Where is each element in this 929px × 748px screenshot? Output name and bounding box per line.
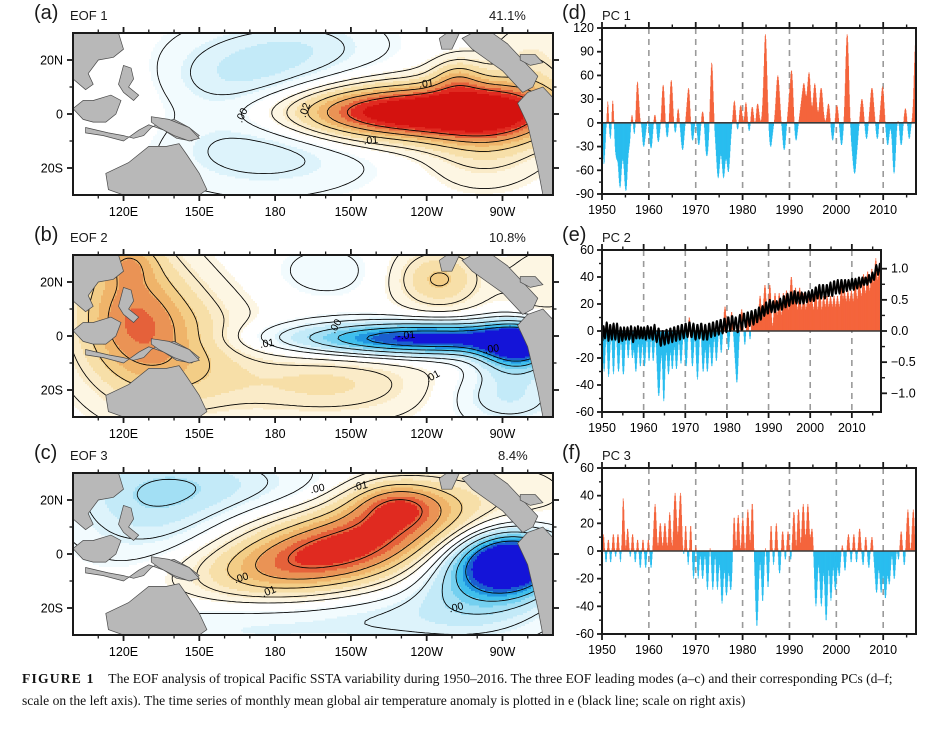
contour-label: -.01 bbox=[397, 329, 416, 343]
pc2-chart: -60-40-200204060−1.0−0.50.00.51.01950196… bbox=[560, 240, 929, 440]
pc2-y2tick-label: −0.5 bbox=[891, 355, 916, 369]
map-ytick-label: 20N bbox=[40, 276, 63, 290]
map-xtick-label: 150W bbox=[335, 205, 368, 219]
pc1-xtick-label: 1970 bbox=[682, 203, 710, 217]
pc1-ytick-label: 0 bbox=[587, 116, 594, 130]
pc3-xtick-label: 1960 bbox=[635, 643, 663, 657]
pc1-xtick-label: 2000 bbox=[822, 203, 850, 217]
pc2-y2tick-label: 1.0 bbox=[891, 262, 908, 276]
map-xtick-label: 120W bbox=[410, 205, 443, 219]
pc2-xtick-label: 2000 bbox=[796, 421, 824, 435]
eof3-field bbox=[73, 473, 554, 636]
map-xtick-label: 120E bbox=[109, 645, 138, 659]
caption-text: The EOF analysis of tropical Pacific SST… bbox=[22, 671, 893, 708]
contour-label: .00 bbox=[484, 342, 500, 356]
pc3-chart: -60-40-200204060195019601970198019902000… bbox=[560, 458, 929, 662]
panel-pc1: (d) PC 1 -90-60-300306090120195019601970… bbox=[560, 0, 929, 222]
pc2-y2tick-label: 0.5 bbox=[891, 293, 908, 307]
pc1-ytick-label: 60 bbox=[580, 68, 594, 82]
pc1-ytick-label: -90 bbox=[576, 187, 594, 201]
map-xtick-label: 120W bbox=[410, 645, 443, 659]
map-ytick-label: 20N bbox=[40, 54, 63, 68]
panel-eof2: (b) EOF 2 10.8% .00-.01.00.01.01120E150E… bbox=[0, 222, 560, 440]
pc2-y2tick-label: 0.0 bbox=[891, 324, 908, 338]
pc1-svg: -90-60-300306090120195019601970198019902… bbox=[560, 18, 929, 222]
pc1-chart: -90-60-300306090120195019601970198019902… bbox=[560, 18, 929, 222]
map-xtick-label: 180 bbox=[265, 645, 286, 659]
pc3-ytick-label: 0 bbox=[587, 544, 594, 558]
pc1-xtick-label: 1950 bbox=[588, 203, 616, 217]
map-ytick-label: 0 bbox=[56, 548, 63, 562]
pc3-xtick-label: 1980 bbox=[729, 643, 757, 657]
pc1-ytick-label: 90 bbox=[580, 45, 594, 59]
map-xtick-label: 150W bbox=[335, 427, 368, 441]
pc1-xtick-label: 1990 bbox=[776, 203, 804, 217]
map-xtick-label: 150W bbox=[335, 645, 368, 659]
map-xtick-label: 90W bbox=[490, 205, 516, 219]
pc2-ytick-label: 40 bbox=[580, 270, 594, 284]
pc2-ytick-label: -40 bbox=[576, 378, 594, 392]
pc3-xtick-label: 1970 bbox=[682, 643, 710, 657]
pc2-ytick-label: 60 bbox=[580, 243, 594, 257]
map-ytick-label: 0 bbox=[56, 108, 63, 122]
pc1-xtick-label: 2010 bbox=[869, 203, 897, 217]
map-xtick-label: 120E bbox=[109, 427, 138, 441]
map-xtick-label: 150E bbox=[185, 427, 214, 441]
pc1-ytick-label: 120 bbox=[573, 21, 594, 35]
contour-label: .01 bbox=[259, 337, 276, 351]
eof1-field bbox=[73, 33, 554, 196]
contour-label: .01 bbox=[352, 479, 369, 493]
pc2-ytick-label: 20 bbox=[580, 297, 594, 311]
panel-pc2: (e) PC 2 -60-40-200204060−1.0−0.50.00.51… bbox=[560, 222, 929, 440]
pc1-ytick-label: -60 bbox=[576, 163, 594, 177]
pc3-xtick-label: 1950 bbox=[588, 643, 616, 657]
eof2-svg: .00-.01.00.01.01120E150E180150W120W90W20… bbox=[0, 242, 560, 442]
pc2-ytick-label: 0 bbox=[587, 324, 594, 338]
pc2-svg: -60-40-200204060−1.0−0.50.00.51.01950196… bbox=[560, 240, 929, 440]
map-ytick-label: 20S bbox=[41, 162, 63, 176]
pc1-xtick-label: 1980 bbox=[729, 203, 757, 217]
pc3-svg: -60-40-200204060195019601970198019902000… bbox=[560, 458, 929, 662]
pc2-xtick-label: 1950 bbox=[588, 421, 616, 435]
pc3-ytick-label: -20 bbox=[576, 572, 594, 586]
eof2-map: .00-.01.00.01.01120E150E180150W120W90W20… bbox=[0, 242, 560, 442]
map-ytick-label: 20S bbox=[41, 602, 63, 616]
map-xtick-label: 150E bbox=[185, 645, 214, 659]
map-ytick-label: 0 bbox=[56, 330, 63, 344]
map-xtick-label: 90W bbox=[490, 427, 516, 441]
panel-eof1: (a) EOF 1 41.1% .01.01.02.00120E150E1801… bbox=[0, 0, 560, 222]
pc3-ytick-label: 20 bbox=[580, 516, 594, 530]
pc2-xtick-label: 1960 bbox=[630, 421, 658, 435]
map-xtick-label: 120E bbox=[109, 205, 138, 219]
contour-label: .01 bbox=[363, 134, 379, 147]
map-ytick-label: 20N bbox=[40, 494, 63, 508]
panel-eof3: (c) EOF 3 8.4% .00.01.00.01.00120E150E18… bbox=[0, 440, 560, 662]
caption-figure-number: FIGURE 1 bbox=[22, 671, 95, 686]
eof1-svg: .01.01.02.00120E150E180150W120W90W20N020… bbox=[0, 20, 560, 220]
pc1-xtick-label: 1960 bbox=[635, 203, 663, 217]
map-xtick-label: 180 bbox=[265, 205, 286, 219]
pc1-ytick-label: 30 bbox=[580, 92, 594, 106]
eof2-field bbox=[73, 255, 554, 418]
pc2-ytick-label: -20 bbox=[576, 351, 594, 365]
pc3-ytick-label: 40 bbox=[580, 489, 594, 503]
pc3-ytick-label: -60 bbox=[576, 627, 594, 641]
pc3-xtick-label: 2010 bbox=[869, 643, 897, 657]
panel-pc3: (f) PC 3 -60-40-200204060195019601970198… bbox=[560, 440, 929, 662]
pc2-xtick-label: 1980 bbox=[713, 421, 741, 435]
map-ytick-label: 20S bbox=[41, 384, 63, 398]
contour-label: .01 bbox=[418, 77, 434, 90]
pc3-ytick-label: -40 bbox=[576, 599, 594, 613]
map-xtick-label: 180 bbox=[265, 427, 286, 441]
pc2-y2tick-label: −1.0 bbox=[891, 386, 916, 400]
pc2-ytick-label: -60 bbox=[576, 405, 594, 419]
map-xtick-label: 90W bbox=[490, 645, 516, 659]
pc3-ytick-label: 60 bbox=[580, 461, 594, 475]
pc2-xtick-label: 1990 bbox=[755, 421, 783, 435]
eof3-map: .00.01.00.01.00120E150E180150W120W90W20N… bbox=[0, 460, 560, 660]
pc2-xtick-label: 2010 bbox=[838, 421, 866, 435]
map-xtick-label: 150E bbox=[185, 205, 214, 219]
pc1-ytick-label: -30 bbox=[576, 140, 594, 154]
pc2-xtick-label: 1970 bbox=[671, 421, 699, 435]
map-xtick-label: 120W bbox=[410, 427, 443, 441]
figure-caption: FIGURE 1 The EOF analysis of tropical Pa… bbox=[22, 668, 912, 712]
eof1-map: .01.01.02.00120E150E180150W120W90W20N020… bbox=[0, 20, 560, 220]
pc3-xtick-label: 2000 bbox=[822, 643, 850, 657]
eof3-svg: .00.01.00.01.00120E150E180150W120W90W20N… bbox=[0, 460, 560, 660]
pc3-xtick-label: 1990 bbox=[776, 643, 804, 657]
